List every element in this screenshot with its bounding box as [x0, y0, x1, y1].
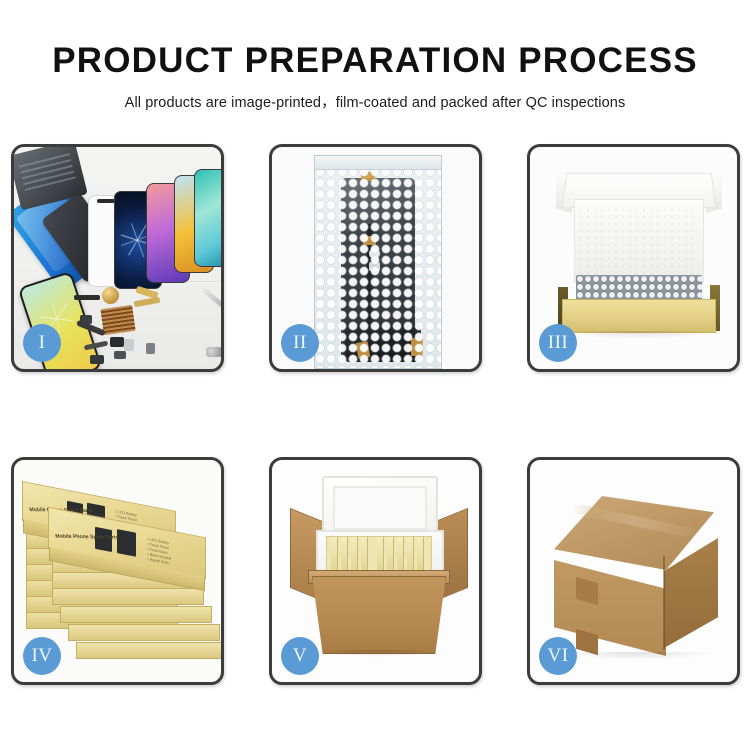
gold-connector-icon — [134, 297, 161, 307]
phone-teal-icon — [194, 169, 221, 267]
bag-seal — [315, 156, 441, 170]
small-component-icon — [146, 343, 155, 354]
screws-icon — [206, 347, 221, 357]
step-panel-2: II — [269, 144, 482, 372]
product-preparation-infographic: PRODUCT PREPARATION PROCESS All products… — [0, 0, 750, 750]
chip-grid-icon — [100, 305, 135, 335]
box-label-text: Mobile Phone Spare Parts — [55, 534, 119, 541]
bubble-wrap-texture — [315, 156, 441, 368]
small-component-icon — [114, 351, 126, 359]
box-layer — [60, 606, 212, 623]
bubble-bag — [314, 155, 442, 369]
foam-sheet — [578, 207, 698, 275]
tweezers-icon — [201, 287, 221, 308]
step-panel-3: III — [527, 144, 740, 372]
box-layer — [52, 588, 204, 605]
page-title: PRODUCT PREPARATION PROCESS — [0, 0, 750, 78]
speaker-coil-icon — [102, 287, 119, 304]
small-component-icon — [80, 315, 92, 324]
step-badge-6: VI — [539, 637, 577, 675]
drop-shadow — [564, 652, 714, 660]
header: PRODUCT PREPARATION PROCESS All products… — [0, 0, 750, 112]
carton-corner-edge — [663, 556, 665, 650]
step-badge-5: V — [281, 637, 319, 675]
box-front-wall — [562, 299, 716, 333]
step-panel-6: VI — [527, 457, 740, 685]
small-component-icon — [124, 339, 134, 351]
box-layer — [68, 624, 220, 641]
flex-cable-icon — [74, 295, 100, 300]
printed-phone-image — [117, 529, 136, 557]
step-panel-4: Mobile Phone Spare Parts □ LCD Display □… — [11, 457, 224, 685]
process-steps-grid: I II — [11, 144, 739, 680]
box-layer — [76, 642, 221, 659]
small-component-icon — [110, 337, 124, 347]
step-panel-5: V — [269, 457, 482, 685]
step-badge-1: I — [23, 324, 61, 362]
step-badge-2: II — [281, 324, 319, 362]
step-badge-4: IV — [23, 637, 61, 675]
step-panel-1: I — [11, 144, 224, 372]
page-subtitle: All products are image-printed，film-coat… — [0, 78, 750, 112]
drop-shadow — [566, 331, 712, 339]
carton-body — [312, 576, 446, 654]
drop-shadow — [316, 650, 440, 657]
small-component-icon — [90, 355, 104, 364]
box-spec-lines: □ LCD Display □ Touch Panel □ Front Glas… — [147, 537, 171, 567]
step-badge-3: III — [539, 324, 577, 362]
